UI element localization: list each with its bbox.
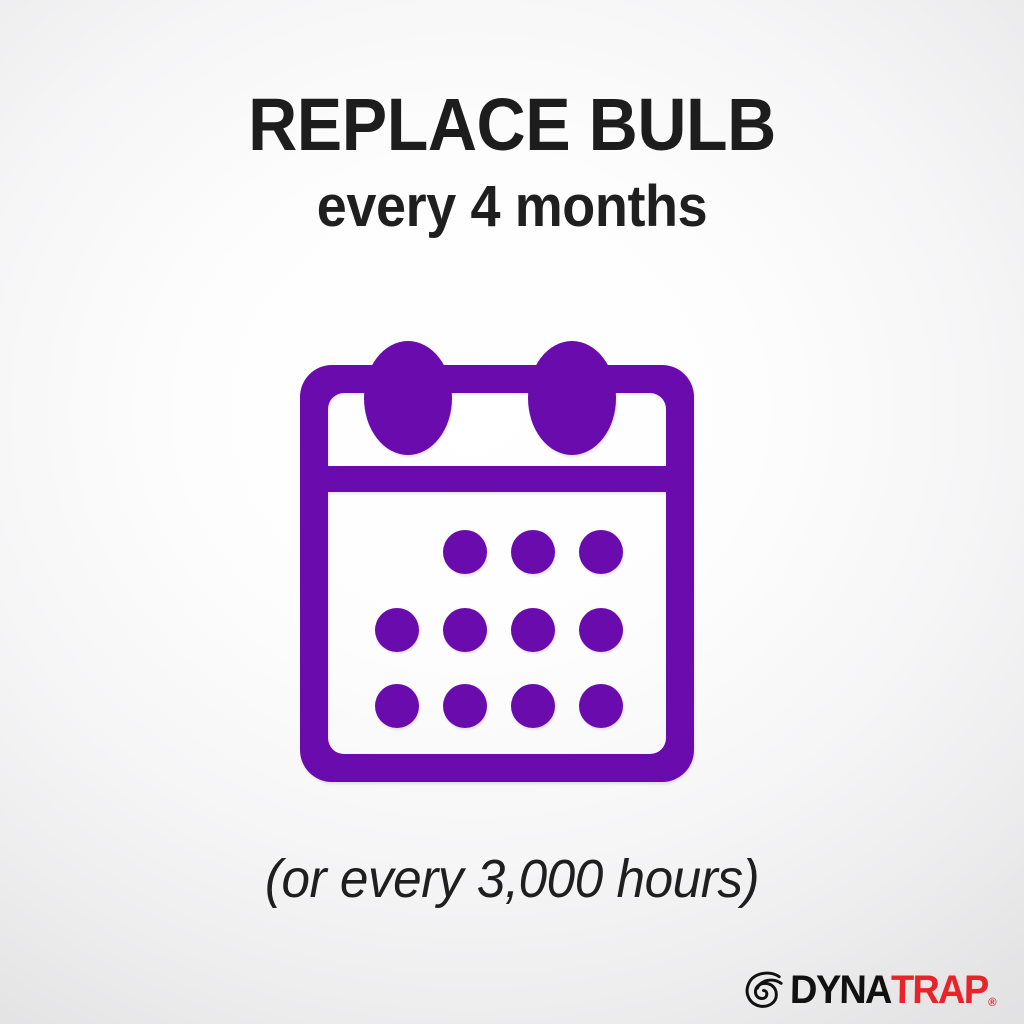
brand-name-primary: DYNA <box>790 970 891 1010</box>
calendar-dot <box>443 530 487 574</box>
poster-canvas: REPLACE BULB every 4 months <box>0 0 1024 1024</box>
calendar-dot <box>511 530 555 574</box>
brand-name-secondary: TRAP <box>891 970 988 1010</box>
calendar-dot <box>579 608 623 652</box>
page-title: REPLACE BULB <box>41 88 983 162</box>
brand-wordmark: DYNA TRAP ® <box>790 970 997 1010</box>
calendar-icon <box>272 300 752 800</box>
footnote-text: (or every 3,000 hours) <box>26 848 999 910</box>
registered-trademark-icon: ® <box>988 996 997 1010</box>
calendar-illustration <box>272 300 752 800</box>
calendar-dot <box>443 608 487 652</box>
calendar-dot <box>511 608 555 652</box>
brand-logo: DYNA TRAP ® <box>745 970 1008 1010</box>
calendar-dot <box>579 684 623 728</box>
calendar-dot <box>443 684 487 728</box>
calendar-dot <box>511 684 555 728</box>
headline-block: REPLACE BULB every 4 months <box>0 88 1024 236</box>
calendar-ring-left <box>364 341 452 455</box>
calendar-ring-right <box>528 341 616 455</box>
calendar-divider <box>300 466 694 492</box>
calendar-dot <box>375 684 419 728</box>
fingerprint-spiral-icon <box>745 971 783 1009</box>
page-subtitle: every 4 months <box>36 178 988 236</box>
calendar-dot <box>375 608 419 652</box>
calendar-dot <box>579 530 623 574</box>
calendar-frame <box>300 365 694 782</box>
